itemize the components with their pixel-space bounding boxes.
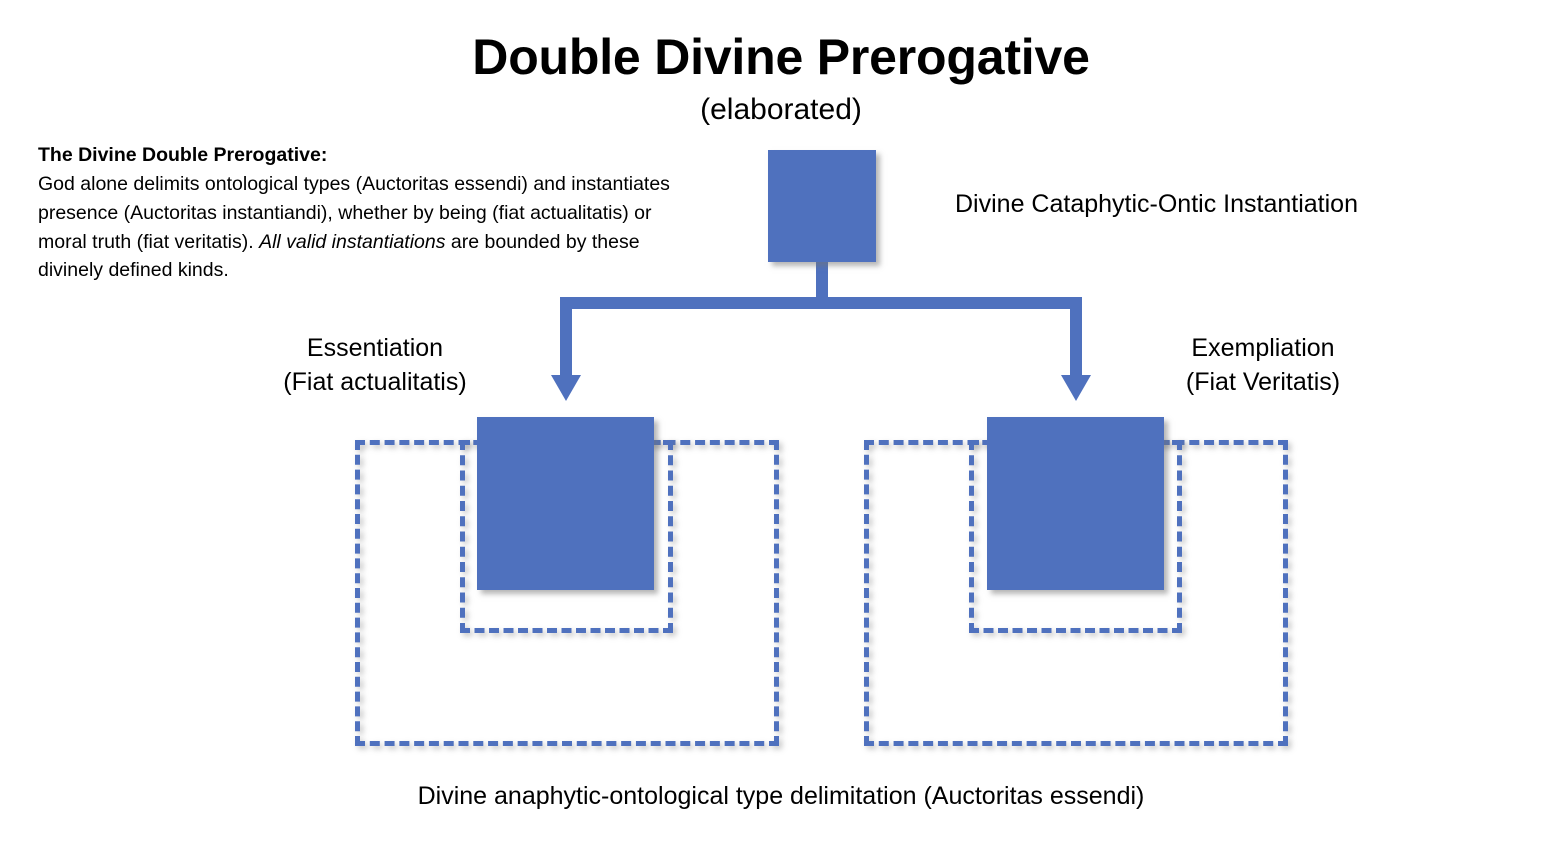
connector-bar [560, 297, 1082, 309]
connector-right-arm [1070, 297, 1082, 376]
right-branch-label-line1: Exempliation [1143, 331, 1383, 365]
instantiation-label: Divine Cataphytic-Ontic Instantiation [955, 187, 1358, 221]
right-branch-label-line2: (Fiat Veritatis) [1143, 365, 1383, 399]
page-subtitle: (elaborated) [0, 93, 1562, 126]
description-body: God alone delimits ontological types (Au… [38, 170, 703, 285]
right-branch-label: Exempliation (Fiat Veritatis) [1143, 331, 1383, 399]
connector-left-arm [560, 297, 572, 376]
connector-right-arrowhead [1061, 375, 1091, 401]
description-heading: The Divine Double Prerogative: [38, 141, 703, 170]
fork-arrow-connector [0, 0, 1562, 852]
bottom-caption: Divine anaphytic-ontological type delimi… [0, 779, 1562, 813]
divine-cataphytic-ontic-instantiation-square [768, 150, 876, 262]
left-branch-label: Essentiation (Fiat actualitatis) [255, 331, 495, 399]
left-branch-label-line2: (Fiat actualitatis) [255, 365, 495, 399]
connector-stem [816, 262, 828, 309]
essentiation-instantiation-square [477, 417, 654, 590]
left-branch-label-line1: Essentiation [255, 331, 495, 365]
connector-left-arrowhead [551, 375, 581, 401]
page-title: Double Divine Prerogative [0, 30, 1562, 84]
description-emphasis: All valid instantiations [259, 231, 445, 253]
slide-canvas: Double Divine Prerogative (elaborated) T… [0, 0, 1562, 852]
description-block: The Divine Double Prerogative: God alone… [38, 141, 703, 285]
exempliation-instantiation-square [987, 417, 1164, 590]
